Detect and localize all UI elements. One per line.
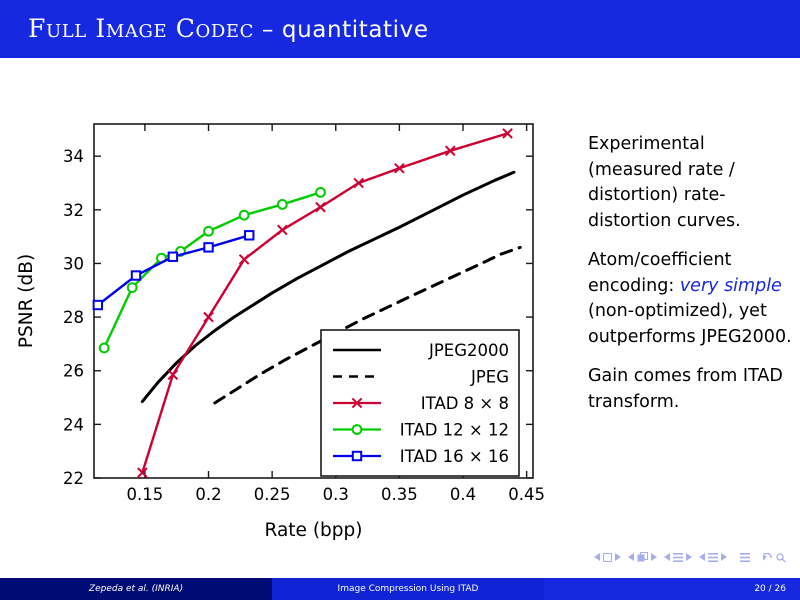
series-3 bbox=[100, 188, 325, 352]
bullet-experimental: Experimental (measured rate / distortion… bbox=[588, 132, 794, 234]
bullet-gain: Gain comes from ITAD transform. bbox=[588, 364, 794, 415]
subsection-next-icon[interactable] bbox=[686, 553, 692, 561]
frame-marker-icon[interactable] bbox=[637, 552, 648, 562]
section-next-icon[interactable] bbox=[721, 553, 727, 561]
chart-axis-labels: Rate (bpp)PSNR (dB) bbox=[16, 254, 362, 541]
series-2-point-5 bbox=[316, 203, 325, 212]
legend-label-0: JPEG2000 bbox=[428, 341, 509, 360]
x-tick-label-1: 0.2 bbox=[195, 485, 221, 504]
legend-label-4: ITAD 16 × 16 bbox=[400, 447, 509, 466]
legend-marker-4 bbox=[353, 452, 361, 460]
x-tick-label-6: 0.45 bbox=[508, 485, 545, 504]
series-2-point-2 bbox=[204, 312, 213, 321]
subsection-prev-icon[interactable] bbox=[664, 553, 670, 561]
series-3-point-1 bbox=[128, 283, 137, 292]
x-axis-label: Rate (bpp) bbox=[265, 520, 363, 541]
frame-prev-icon[interactable] bbox=[628, 553, 634, 561]
nav-section-group[interactable] bbox=[699, 553, 727, 562]
beamer-nav-symbols[interactable] bbox=[594, 548, 786, 566]
footer-author: Zepeda et al. (INRIA) bbox=[0, 578, 272, 600]
y-axis-label: PSNR (dB) bbox=[16, 254, 37, 348]
search-marker-icon[interactable] bbox=[776, 553, 786, 562]
title-bar: Full Image Codec – quantitative bbox=[0, 0, 800, 58]
y-tick-label-0: 22 bbox=[63, 469, 84, 488]
back-marker-icon[interactable] bbox=[763, 553, 773, 562]
series-2-point-3 bbox=[240, 255, 249, 264]
nav-doc-group[interactable] bbox=[740, 553, 750, 562]
y-tick-label-2: 26 bbox=[63, 362, 84, 381]
legend-label-2: ITAD 8 × 8 bbox=[421, 394, 509, 413]
series-line-3 bbox=[104, 192, 320, 348]
series-4-point-2 bbox=[169, 253, 177, 261]
doc-marker-icon[interactable] bbox=[740, 553, 750, 562]
series-4-point-1 bbox=[132, 271, 140, 279]
slide-next-icon[interactable] bbox=[615, 553, 621, 561]
series-3-point-6 bbox=[278, 200, 287, 209]
footer-title: Image Compression Using ITAD bbox=[272, 578, 544, 600]
slide-marker-icon[interactable] bbox=[603, 553, 612, 562]
subsection-marker-icon[interactable] bbox=[673, 553, 683, 562]
y-tick-label-1: 24 bbox=[63, 415, 84, 434]
bullet-encoding: Atom/coefficient encoding: very simple (… bbox=[588, 248, 794, 350]
section-prev-icon[interactable] bbox=[699, 553, 705, 561]
series-4-point-3 bbox=[204, 243, 212, 251]
chart-svg: 0.150.20.250.30.350.40.4522242628303234 … bbox=[8, 96, 568, 546]
y-tick-label-3: 28 bbox=[63, 308, 84, 327]
slide-prev-icon[interactable] bbox=[594, 553, 600, 561]
y-tick-label-5: 32 bbox=[63, 201, 84, 220]
y-tick-label-6: 34 bbox=[63, 147, 84, 166]
bullet-list: Experimental (measured rate / distortion… bbox=[588, 132, 794, 429]
footer-bar: Zepeda et al. (INRIA) Image Compression … bbox=[0, 578, 800, 600]
legend-label-1: JPEG bbox=[470, 368, 509, 387]
series-2-point-4 bbox=[278, 225, 287, 234]
legend-marker-3 bbox=[353, 425, 362, 434]
bullet-experimental-part-0: Experimental (measured rate / distortion… bbox=[588, 134, 741, 231]
bullet-encoding-part-2: (non-optimized), yet outperforms JPEG200… bbox=[588, 301, 792, 347]
page-title-smallcaps: Full Image Codec bbox=[28, 14, 254, 43]
bullet-encoding-part-1: very simple bbox=[680, 276, 782, 296]
series-4-point-0 bbox=[94, 301, 102, 309]
frame-next-icon[interactable] bbox=[651, 553, 657, 561]
nav-subsection-group[interactable] bbox=[664, 553, 692, 562]
rate-distortion-chart: 0.150.20.250.30.350.40.4522242628303234 … bbox=[8, 96, 568, 546]
x-tick-label-0: 0.15 bbox=[127, 485, 164, 504]
y-tick-label-4: 30 bbox=[63, 254, 84, 273]
x-tick-label-5: 0.4 bbox=[450, 485, 476, 504]
nav-frame-group[interactable] bbox=[628, 552, 657, 562]
footer-page-number: 20 / 26 bbox=[544, 578, 800, 600]
legend-label-3: ITAD 12 × 12 bbox=[400, 421, 509, 440]
series-4-point-4 bbox=[245, 231, 253, 239]
slide-root: Full Image Codec – quantitative 0.150.20… bbox=[0, 0, 800, 600]
series-3-point-4 bbox=[204, 227, 213, 236]
series-3-point-0 bbox=[100, 344, 109, 353]
chart-legend: JPEG2000JPEGITAD 8 × 8ITAD 12 × 12ITAD 1… bbox=[321, 330, 519, 476]
x-tick-label-2: 0.25 bbox=[254, 485, 291, 504]
x-tick-label-3: 0.3 bbox=[323, 485, 349, 504]
page-title: Full Image Codec – quantitative bbox=[28, 14, 429, 43]
nav-back-group[interactable] bbox=[763, 553, 786, 562]
x-tick-label-4: 0.35 bbox=[381, 485, 418, 504]
series-4 bbox=[94, 231, 254, 309]
nav-slide-group[interactable] bbox=[594, 553, 621, 562]
page-title-rest: – quantitative bbox=[254, 17, 429, 43]
series-3-point-5 bbox=[240, 211, 249, 220]
series-line-4 bbox=[98, 235, 249, 305]
section-marker-icon[interactable] bbox=[708, 553, 718, 562]
bullet-gain-part-0: Gain comes from ITAD transform. bbox=[588, 366, 783, 412]
series-3-point-7 bbox=[316, 188, 325, 197]
